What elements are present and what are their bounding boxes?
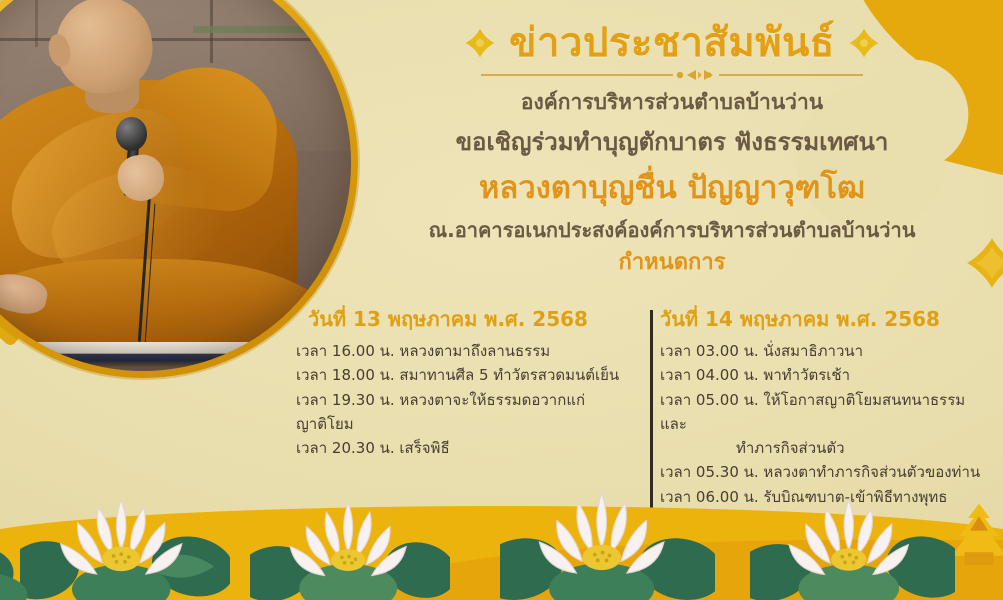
schedule-item-text: เวลา 16.00 น. หลวงตามาถึงลานธรรม	[296, 342, 550, 360]
schedule-heading: กำหนดการ	[352, 248, 992, 279]
floret-ornament-icon-left	[465, 28, 495, 58]
organization-name: องค์การบริหารส่วนตำบลบ้านว่าน	[352, 87, 992, 117]
schedule-item-continuation: ทำภารกิจส่วนตัว	[660, 436, 982, 460]
day1-items: เวลา 16.00 น. หลวงตามาถึงลานธรรมเวลา 18.…	[296, 339, 626, 460]
schedule-column-day2: วันที่ 14 พฤษภาคม พ.ศ. 2568 เวลา 03.00 น…	[642, 306, 982, 582]
schedule-item-text: เวลา 05.00 น. ให้โอกาสญาติโยมสนทนาธรรมแล…	[660, 391, 965, 433]
schedule-item: เวลา 04.00 น. พาทำวัตรเช้า	[660, 363, 982, 387]
schedule-item: เวลา 20.30 น. เสร็จพิธี	[296, 436, 626, 460]
schedule-block: วันที่ 13 พฤษภาคม พ.ศ. 2568 เวลา 16.00 น…	[296, 306, 996, 582]
day2-items: เวลา 03.00 น. นั่งสมาธิภาวนาเวลา 04.00 น…	[660, 339, 982, 582]
schedule-item: เวลา 18.00 น. สมาทานศีล 5 ทำวัตรสวดมนต์เ…	[296, 363, 626, 387]
schedule-item: เวลา 05.00 น. ให้โอกาสญาติโยมสนทนาธรรมแล…	[660, 388, 982, 461]
schedule-item-text: เวลา 03.00 น. นั่งสมาธิภาวนา	[660, 342, 863, 360]
schedule-item: เวลา 03.00 น. นั่งสมาธิภาวนา	[660, 339, 982, 363]
lotus-leaf-icon	[0, 495, 35, 600]
floret-ornament-icon-right	[849, 28, 879, 58]
poster-canvas: ข่าวประชาสัมพันธ์ องค์การบริหารส่วนตำบลบ…	[0, 0, 1003, 600]
schedule-item-text: เวลา 18.00 น. สมาทานศีล 5 ทำวัตรสวดมนต์เ…	[296, 366, 619, 384]
schedule-item-text: เวลา 19.30 น. หลวงตาจะให้ธรรมดอวากแก่ญาต…	[296, 391, 585, 433]
day2-heading: วันที่ 14 พฤษภาคม พ.ศ. 2568	[660, 306, 982, 332]
schedule-item-text: เวลา 06.00 น. รับบิณฑบาต-เข้าพิธีทางพุทธ…	[660, 488, 947, 530]
day1-heading: วันที่ 13 พฤษภาคม พ.ศ. 2568	[296, 306, 626, 332]
schedule-item-text: เวลา 04.00 น. พาทำวัตรเช้า	[660, 366, 850, 384]
schedule-item-text: เวลา 20.30 น. เสร็จพิธี	[296, 439, 450, 457]
header-block: ข่าวประชาสัมพันธ์ องค์การบริหารส่วนตำบลบ…	[352, 20, 992, 279]
schedule-column-day1: วันที่ 13 พฤษภาคม พ.ศ. 2568 เวลา 16.00 น…	[296, 306, 642, 460]
schedule-item: เวลา 05.30 น. หลวงตาทำภารกิจส่วนตัวของท่…	[660, 460, 982, 484]
ornamental-divider-icon	[477, 67, 867, 81]
lotus-flower-icon	[20, 468, 230, 600]
page-title: ข่าวประชาสัมพันธ์	[509, 20, 835, 66]
venue-line: ณ.อาคารอเนกประสงค์องค์การบริหารส่วนตำบลบ…	[352, 216, 992, 244]
title-row: ข่าวประชาสัมพันธ์	[352, 20, 992, 66]
monk-name: หลวงตาบุญชื่น ปัญญาวุฑโฒ	[352, 168, 992, 210]
schedule-item-text: เวลา 05.30 น. หลวงตาทำภารกิจส่วนตัวของท่…	[660, 463, 980, 481]
schedule-item: เวลา 16.00 น. หลวงตามาถึงลานธรรม	[296, 339, 626, 363]
schedule-item-continuation: ไหว้พระรับศีลถวายทาน พิจารณา อาหาร อนุโม…	[660, 533, 982, 582]
schedule-item: เวลา 19.30 น. หลวงตาจะให้ธรรมดอวากแก่ญาต…	[296, 388, 626, 437]
invitation-line: ขอเชิญร่วมทำบุญตักบาตร ฟังธรรมเทศนา	[352, 126, 992, 160]
schedule-item: เวลา 06.00 น. รับบิณฑบาต-เข้าพิธีทางพุทธ…	[660, 485, 982, 582]
